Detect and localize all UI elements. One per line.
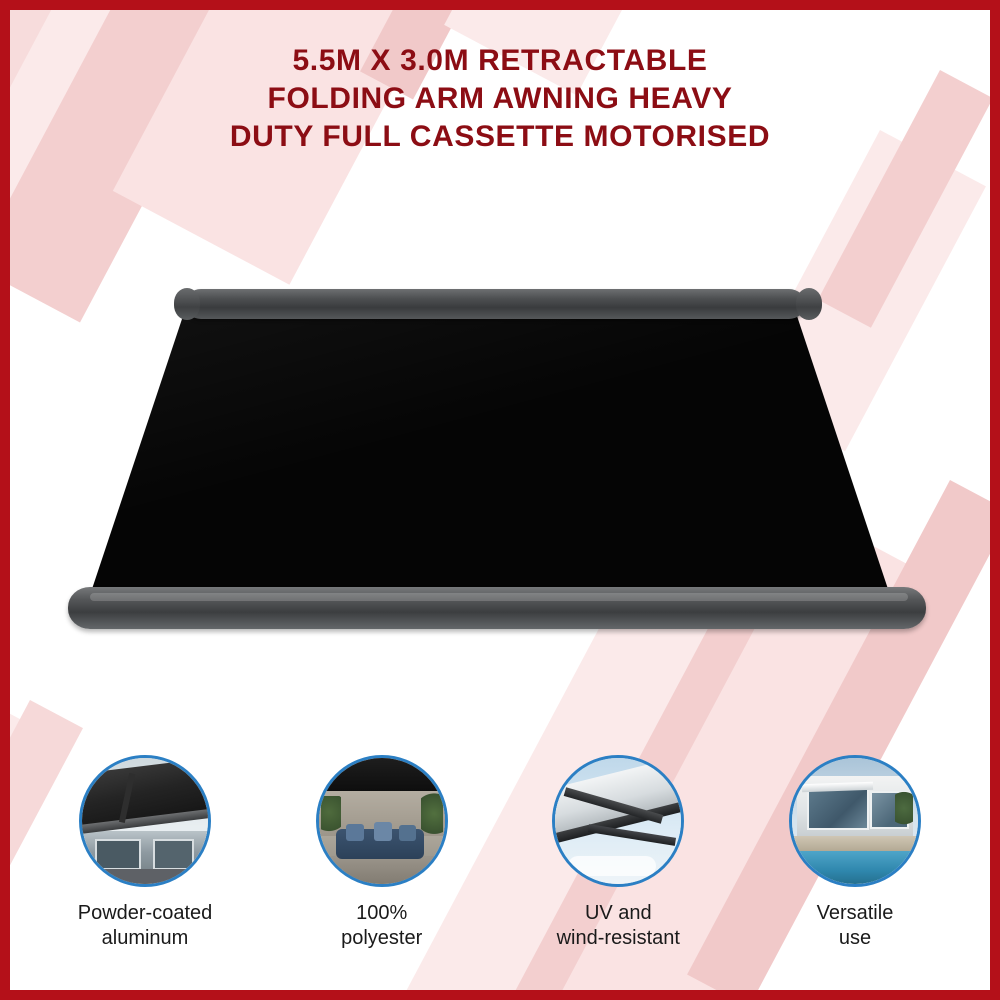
feature-list: Powder-coated aluminum 100% polyester bbox=[40, 755, 960, 965]
feature-thumbnail-versatile-use bbox=[789, 755, 921, 887]
feature-label-versatile-use: Versatile use bbox=[817, 901, 894, 951]
frame-border-top bbox=[0, 0, 1000, 10]
feature-label-line-1: UV and bbox=[557, 901, 680, 926]
product-image-canvas: 5.5M X 3.0M RETRACTABLE FOLDING ARM AWNI… bbox=[0, 0, 1000, 1000]
feature-label-line-2: wind-resistant bbox=[557, 926, 680, 951]
feature-label-line-1: Versatile bbox=[817, 901, 894, 926]
frame-border-left bbox=[0, 0, 10, 1000]
hero-product-awning bbox=[60, 275, 940, 665]
product-title-line-1: 5.5M X 3.0M RETRACTABLE bbox=[0, 42, 1000, 80]
awning-cassette-bar bbox=[185, 289, 805, 319]
awning-front-bar bbox=[68, 587, 926, 629]
feature-uv-wind-resistant: UV and wind-resistant bbox=[513, 755, 723, 965]
feature-label-line-2: use bbox=[817, 926, 894, 951]
feature-powder-coated-aluminum: Powder-coated aluminum bbox=[40, 755, 250, 965]
frame-border-bottom bbox=[0, 990, 1000, 1000]
product-title-line-3: DUTY FULL CASSETTE MOTORISED bbox=[0, 118, 1000, 156]
feature-polyester: 100% polyester bbox=[277, 755, 487, 965]
feature-label-polyester: 100% polyester bbox=[341, 901, 422, 951]
awning-cassette-end-cap-right bbox=[796, 288, 822, 320]
product-title: 5.5M X 3.0M RETRACTABLE FOLDING ARM AWNI… bbox=[0, 42, 1000, 156]
feature-label-line-1: 100% bbox=[341, 901, 422, 926]
feature-label-line-2: aluminum bbox=[78, 926, 213, 951]
feature-label-line-1: Powder-coated bbox=[78, 901, 213, 926]
feature-label-line-2: polyester bbox=[341, 926, 422, 951]
awning-fabric bbox=[90, 295, 890, 595]
awning-front-bar-highlight bbox=[90, 593, 908, 601]
feature-versatile-use: Versatile use bbox=[750, 755, 960, 965]
feature-label-powder-coated-aluminum: Powder-coated aluminum bbox=[78, 901, 213, 951]
feature-thumbnail-powder-coated-aluminum bbox=[79, 755, 211, 887]
frame-border-right bbox=[990, 0, 1000, 1000]
product-title-line-2: FOLDING ARM AWNING HEAVY bbox=[0, 80, 1000, 118]
feature-label-uv-wind-resistant: UV and wind-resistant bbox=[557, 901, 680, 951]
feature-thumbnail-polyester bbox=[316, 755, 448, 887]
awning-cassette-end-cap-left bbox=[174, 288, 200, 320]
feature-thumbnail-uv-wind-resistant bbox=[552, 755, 684, 887]
